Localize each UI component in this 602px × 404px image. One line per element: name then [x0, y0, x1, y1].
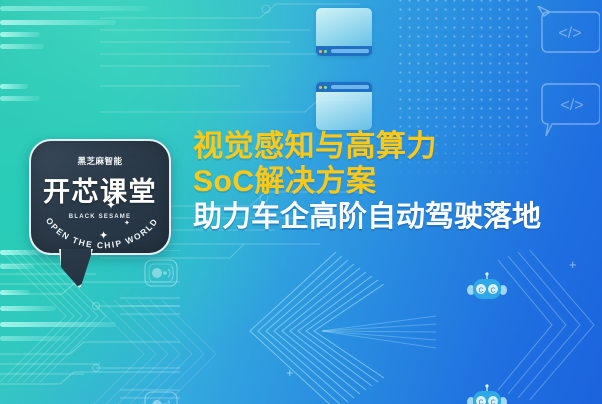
sensor-icon-1 [143, 258, 179, 288]
svg-text:C: C [478, 400, 483, 404]
svg-text:C: C [490, 400, 495, 404]
badge-brand-subtitle: 黑芝麻智能 [31, 155, 169, 167]
headline-block: 视觉感知与高算力 SoC解决方案 助力车企高阶自动驾驶落地 [193, 131, 597, 234]
plus-icon-1: + [569, 258, 577, 271]
left-chevron-decoration [0, 250, 120, 400]
headline-line-3: 助力车企高阶自动驾驶落地 [193, 201, 597, 233]
window-titlebar [316, 82, 372, 92]
svg-text:</>: </> [560, 97, 583, 114]
window-addressbar [331, 85, 369, 89]
center-chevron-decoration [70, 300, 270, 404]
svg-text:</>: </> [558, 25, 581, 42]
chevron-burst-decoration [236, 246, 436, 404]
brand-badge: 黑芝麻智能 开芯课堂 BLACK SESAME OPEN THE CHIP WO… [29, 139, 171, 255]
window-pane [316, 8, 372, 46]
code-bubble-icon-2: </> [536, 82, 600, 138]
sparkle-icon-2: ✦ [124, 219, 130, 227]
robot-head-icon-1: C C [466, 272, 508, 306]
promo-banner: </> </> C C C C [0, 0, 602, 404]
code-bubble-icon-1: </> [536, 6, 600, 62]
window-titlebar [316, 46, 372, 56]
robot-head-icon-2: C C [466, 384, 508, 404]
window-dot-orange [319, 86, 322, 89]
browser-window-mockup-2 [316, 82, 372, 130]
headline-line-1: 视觉感知与高算力 [193, 131, 597, 163]
window-dot-green [324, 50, 327, 53]
sensor-icon-2 [143, 390, 179, 404]
headline-line-2: SoC解决方案 [193, 165, 597, 199]
svg-text:C: C [478, 288, 483, 295]
window-addressbar [331, 49, 369, 53]
sparkle-icon-3: ✦ [99, 229, 108, 242]
window-dot-orange [319, 50, 322, 53]
window-pane [316, 92, 372, 130]
sparkle-icon-1: ✦ [106, 198, 116, 212]
plus-icon-2: + [286, 366, 294, 379]
browser-window-mockup-1 [316, 8, 372, 56]
window-dot-green [324, 86, 327, 89]
svg-text:C: C [490, 288, 495, 295]
